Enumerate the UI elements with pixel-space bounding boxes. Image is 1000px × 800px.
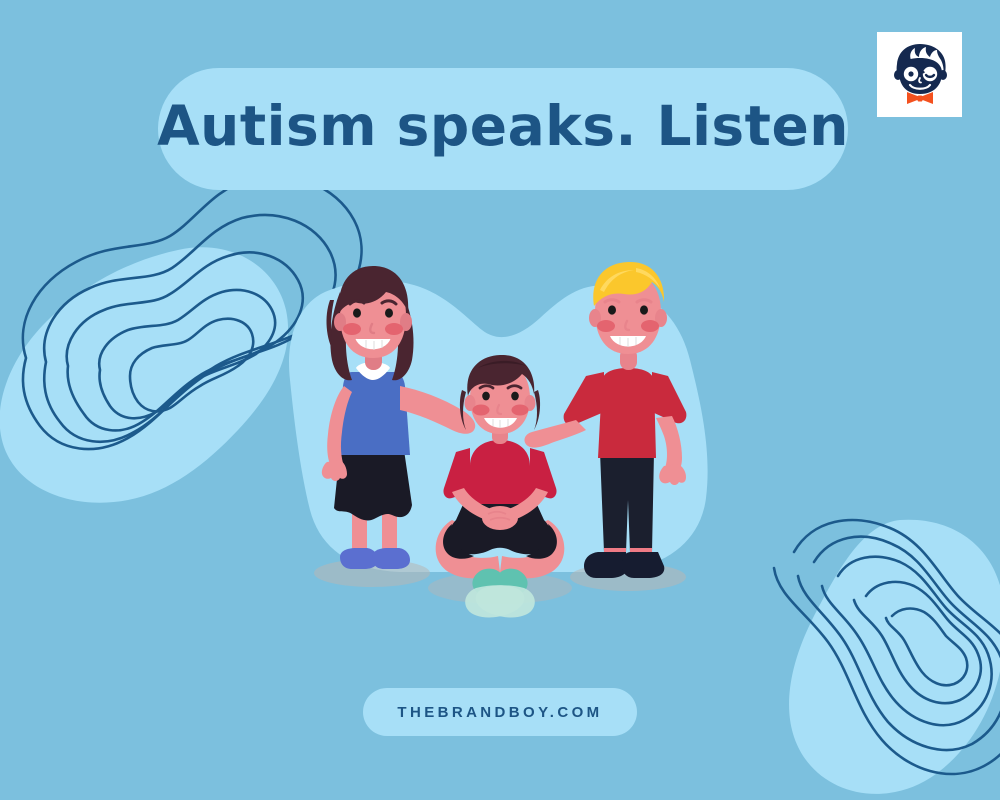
child-shirt — [466, 440, 534, 504]
child-eye-left — [482, 392, 490, 401]
woman-eye-right — [385, 308, 393, 317]
man-shoe-right — [622, 552, 664, 578]
man-shoe-left — [584, 552, 628, 578]
title-banner: Autism speaks. Listen — [158, 68, 848, 190]
poster-canvas: Autism speaks. Listen — [0, 0, 1000, 800]
man-eye-right — [640, 305, 648, 314]
child-eye-right — [511, 392, 519, 401]
man-shirt — [598, 368, 656, 458]
boy-face-logo-icon — [889, 42, 951, 108]
woman-eye-left — [353, 308, 361, 317]
man-hand-right — [659, 464, 686, 485]
thebrandboy-logo[interactable] — [877, 32, 962, 117]
man-eye-left — [608, 305, 616, 314]
footer-url-text: THEBRANDBOY.COM — [363, 688, 637, 736]
footer-url-pill[interactable]: THEBRANDBOY.COM — [363, 688, 637, 736]
woman-shoe-right — [372, 548, 410, 569]
woman-top — [338, 372, 410, 455]
page-title: Autism speaks. Listen — [158, 68, 848, 190]
woman-skirt — [334, 450, 412, 520]
